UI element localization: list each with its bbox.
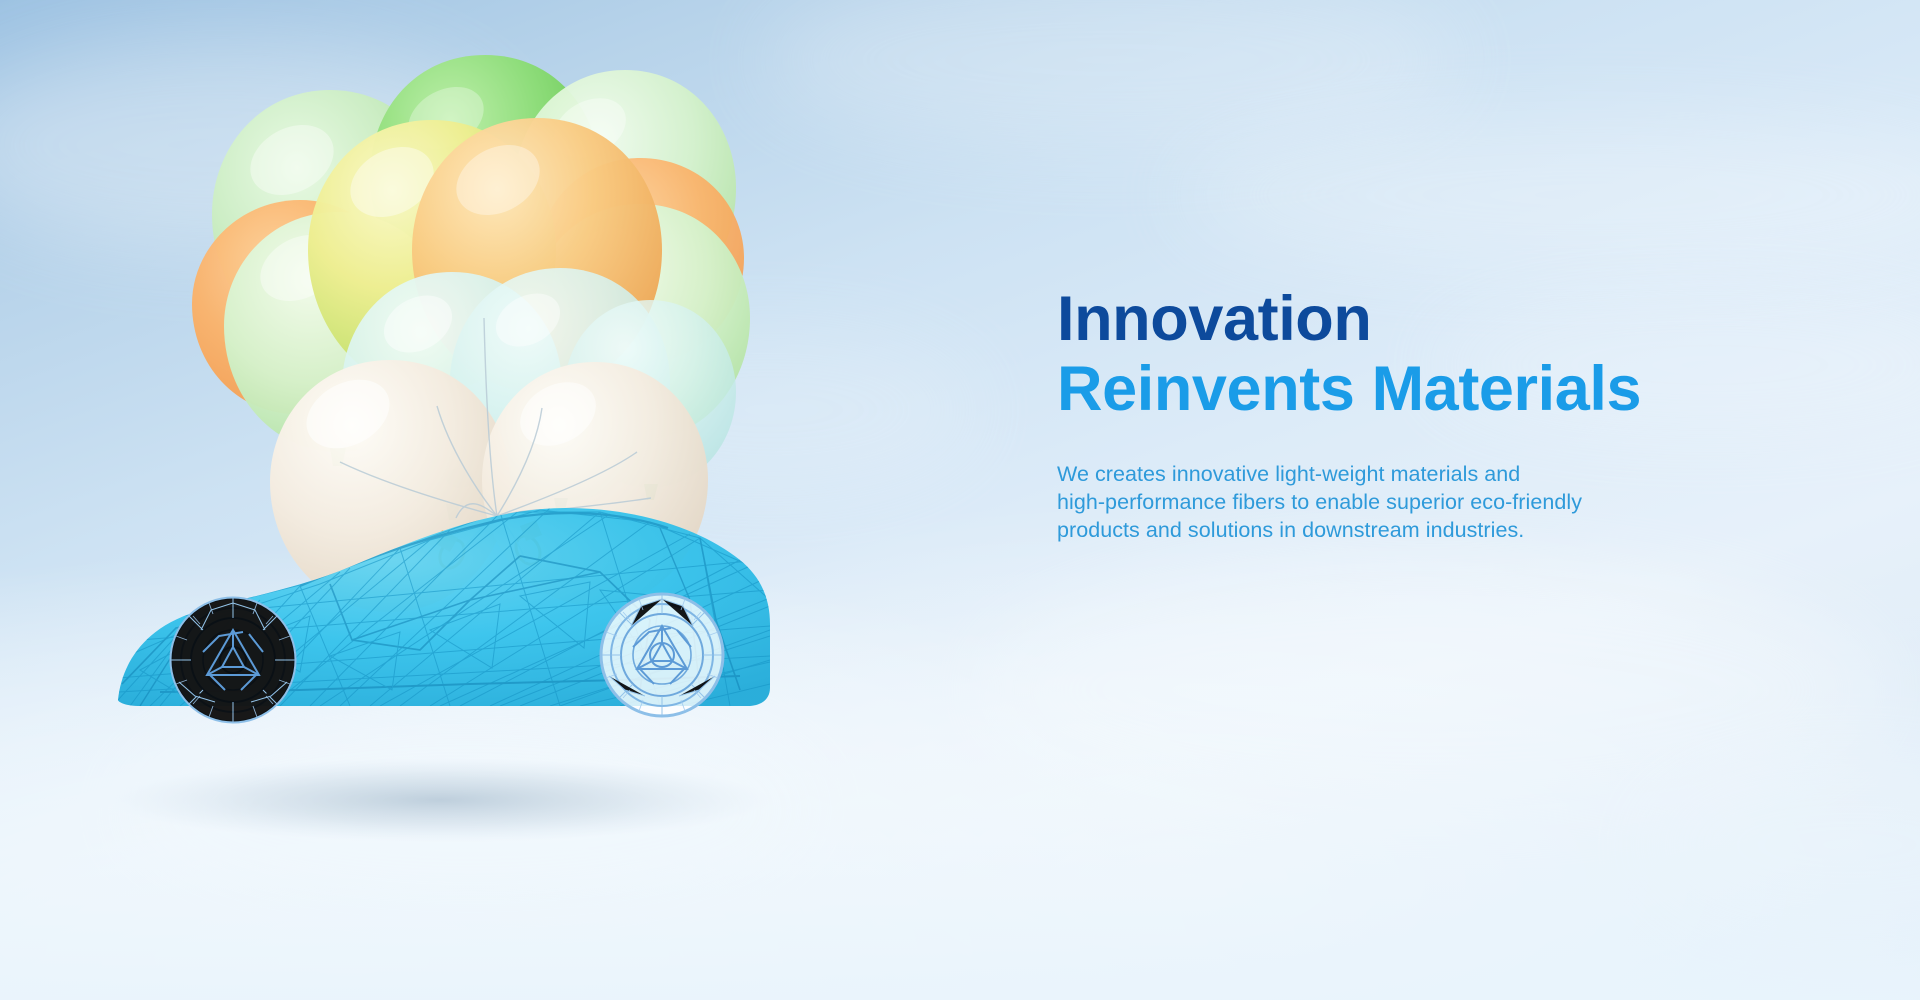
rear-wheel [600,593,724,717]
description-line-2: high-performance fibers to enable superi… [1057,489,1817,517]
front-wheel [170,597,296,723]
wireframe-car [118,508,770,723]
hero-banner: Innovation Reinvents Materials We create… [0,0,1920,1000]
headline-line-2: Reinvents Materials [1057,355,1817,423]
description-line-1: We creates innovative light-weight mater… [1057,461,1817,489]
hero-copy: Innovation Reinvents Materials We create… [1057,285,1817,545]
hero-description: We creates innovative light-weight mater… [1057,461,1817,545]
headline-line-1: Innovation [1057,285,1817,353]
description-line-3: products and solutions in downstream ind… [1057,517,1817,545]
car-ground-shadow [110,758,770,842]
balloons-car-illustration [0,0,820,1000]
